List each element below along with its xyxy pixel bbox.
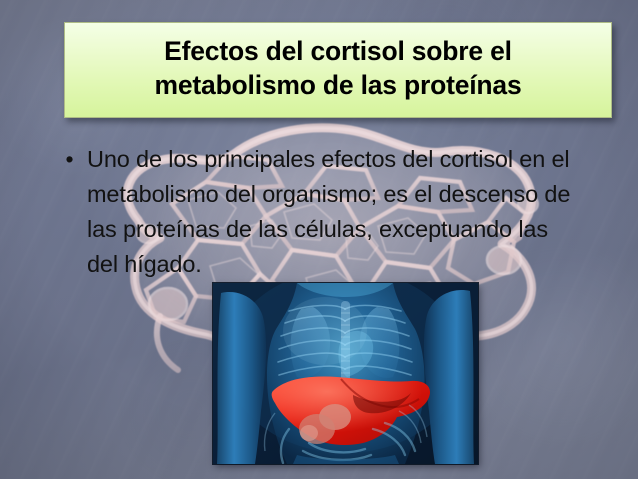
- slide-title: Efectos del cortisol sobre el metabolism…: [155, 34, 522, 103]
- liver-anatomy-image: [213, 283, 478, 464]
- bullet-list-item: • Uno de los principales efectos del cor…: [64, 142, 584, 282]
- slide-title-box: Efectos del cortisol sobre el metabolism…: [64, 22, 612, 118]
- slide-title-line-1: Efectos del cortisol sobre el: [164, 36, 512, 66]
- slide-title-line-2: metabolismo de las proteínas: [155, 70, 522, 100]
- bullet-point-icon: •: [64, 142, 75, 177]
- presentation-slide: Efectos del cortisol sobre el metabolism…: [0, 0, 638, 479]
- slide-body: • Uno de los principales efectos del cor…: [64, 142, 584, 282]
- bullet-item-text: Uno de los principales efectos del corti…: [87, 142, 584, 282]
